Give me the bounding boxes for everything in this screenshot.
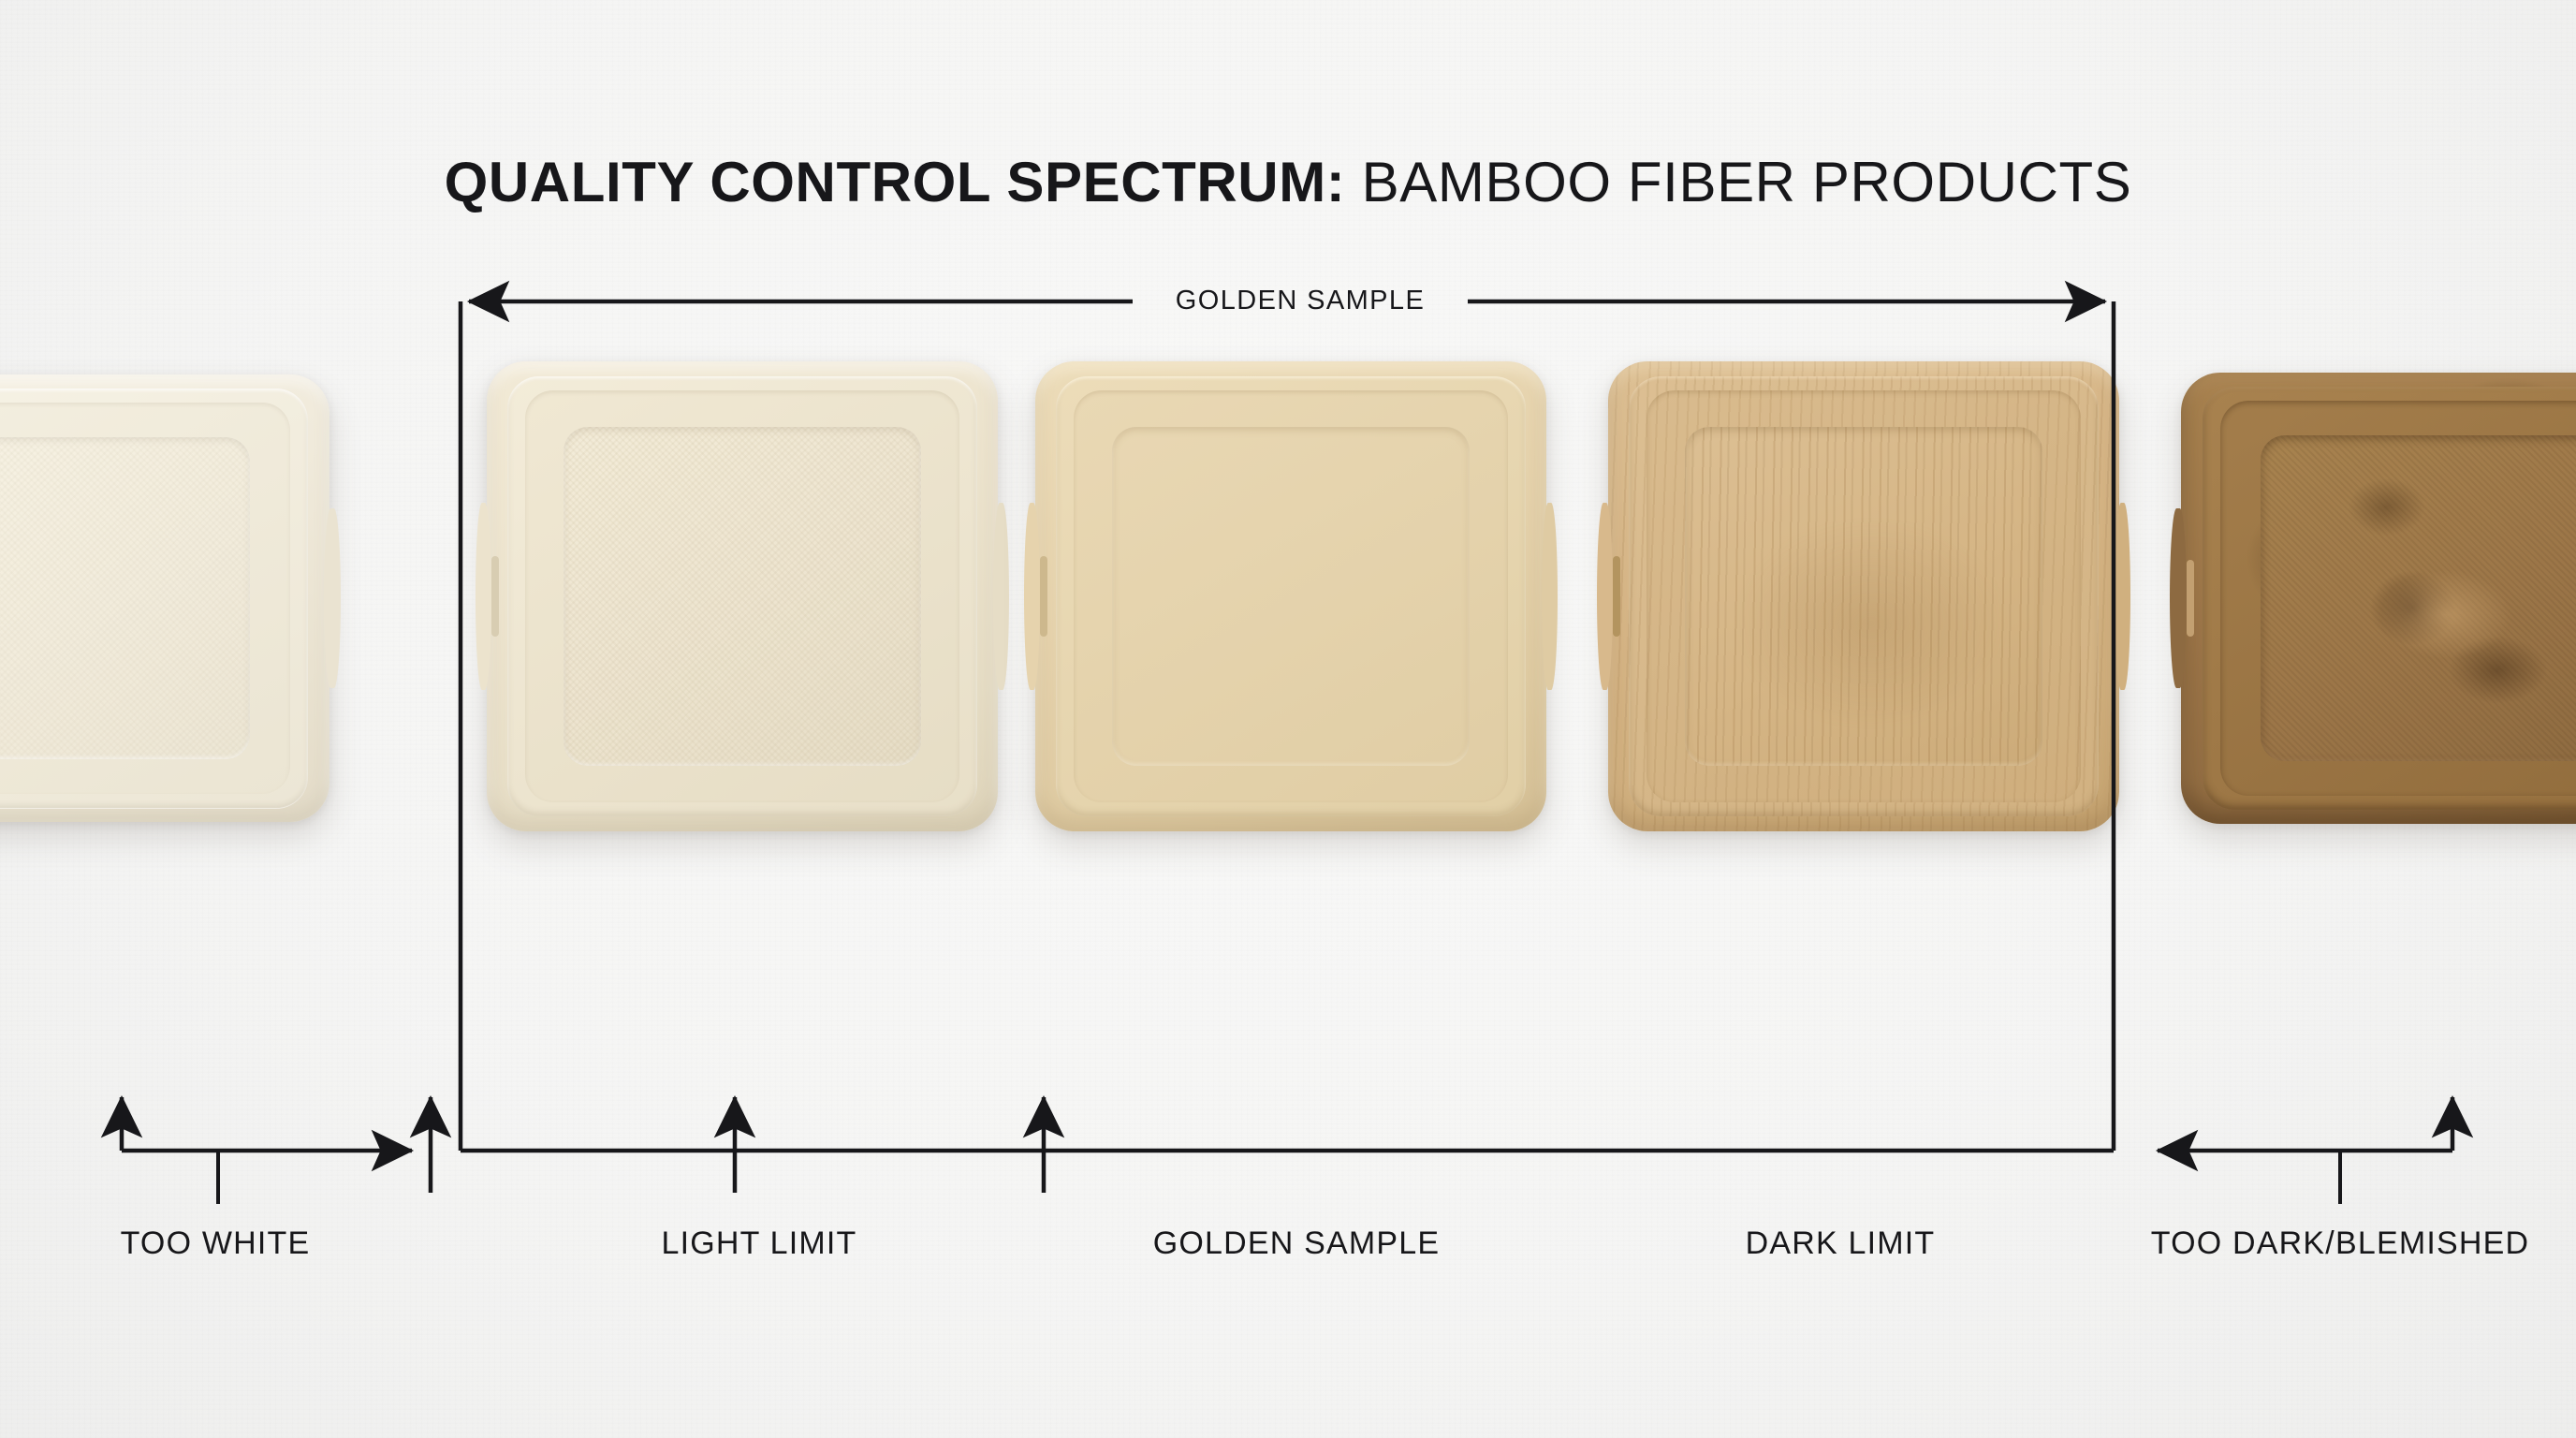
- quality-control-spectrum-figure: QUALITY CONTROL SPECTRUM: BAMBOO FIBER P…: [0, 0, 2576, 1438]
- sample-container-too-dark-blemished: [2181, 373, 2576, 824]
- sample-label-dark-limit: DARK LIMIT: [1746, 1225, 1936, 1262]
- sample-container-dark-limit: [1608, 361, 2119, 831]
- container-inner-panel: [1112, 427, 1470, 765]
- bracket-label-golden-sample: GOLDEN SAMPLE: [1161, 286, 1440, 316]
- container-wing-right: [1542, 503, 1558, 691]
- sample-label-too-dark-blemished: TOO DARK/BLEMISHED: [2151, 1225, 2530, 1262]
- container-wing-left: [1597, 503, 1613, 691]
- container-wing-left: [2170, 508, 2187, 689]
- container-latch-slot: [1040, 556, 1047, 636]
- sample-container-too-white: [0, 374, 329, 822]
- sample-container-light-limit: [487, 361, 998, 831]
- container-inner-panel: [563, 427, 921, 765]
- container-wing-right: [2115, 503, 2130, 691]
- sample-label-too-white: TOO WHITE: [121, 1225, 311, 1262]
- container-wing-right: [324, 508, 341, 687]
- container-inner-panel: [1685, 427, 2042, 765]
- container-wing-left: [476, 503, 491, 691]
- container-latch-slot: [2187, 560, 2194, 637]
- container-wing-right: [993, 503, 1009, 691]
- container-inner-panel: [2261, 435, 2576, 760]
- sample-label-light-limit: LIGHT LIMIT: [661, 1225, 856, 1262]
- container-latch-slot: [491, 556, 499, 636]
- title-bold-part: QUALITY CONTROL SPECTRUM:: [445, 151, 1346, 213]
- container-wing-left: [1024, 503, 1040, 691]
- container-latch-slot: [1613, 556, 1620, 636]
- sample-container-golden-sample: [1035, 361, 1546, 831]
- title-light-part: BAMBOO FIBER PRODUCTS: [1345, 151, 2131, 213]
- sample-label-golden-sample: GOLDEN SAMPLE: [1153, 1225, 1441, 1262]
- container-inner-panel: [0, 437, 250, 759]
- page-title: QUALITY CONTROL SPECTRUM: BAMBOO FIBER P…: [0, 150, 2576, 214]
